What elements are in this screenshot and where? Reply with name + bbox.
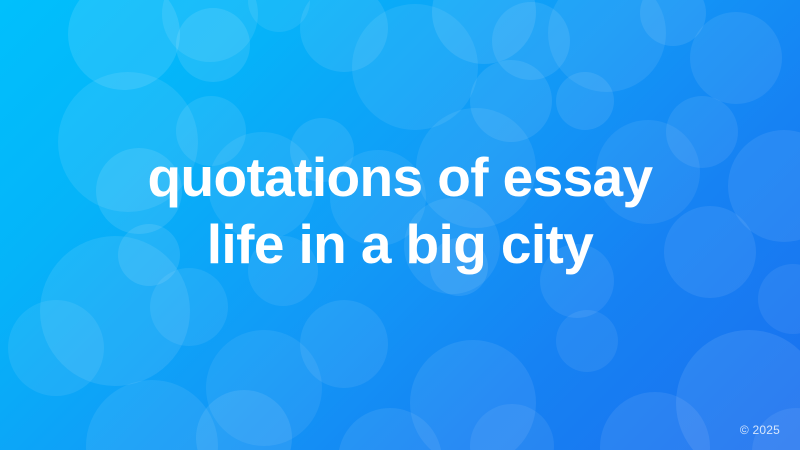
title-line-2: life in a big city: [207, 211, 594, 278]
title-block: quotations of essay life in a big city: [0, 0, 800, 450]
title-card: quotations of essay life in a big city ©…: [0, 0, 800, 450]
title-line-1: quotations of essay: [147, 144, 652, 211]
copyright-notice: © 2025: [740, 423, 780, 437]
